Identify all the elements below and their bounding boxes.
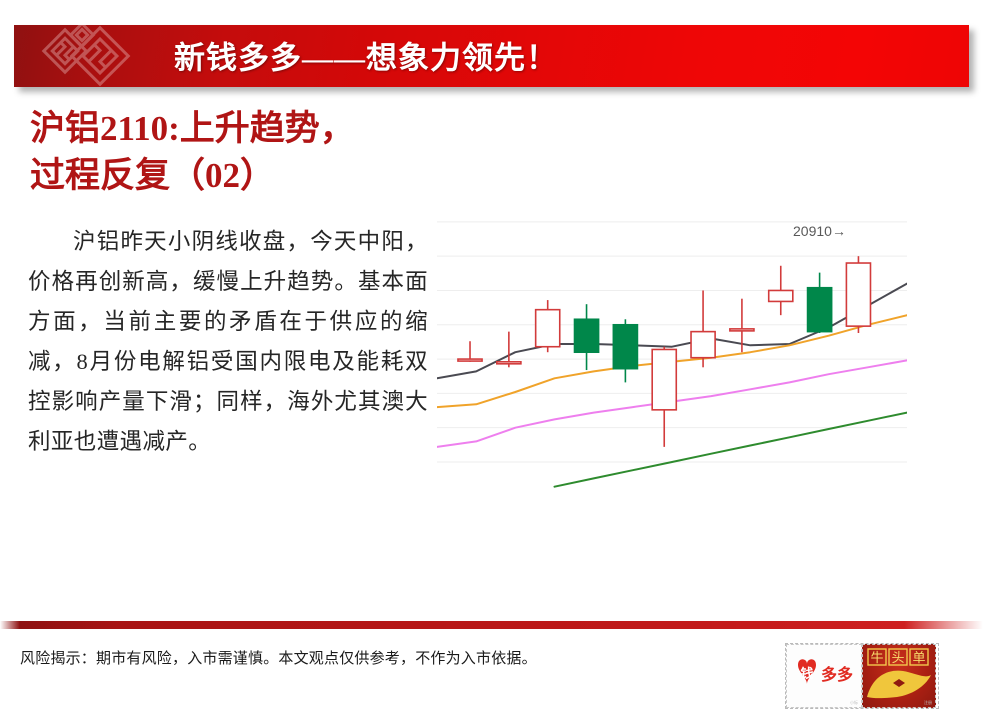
niutoudan-chars: 牛 头 单 (868, 649, 928, 665)
stamp-corner-right: 注册 (924, 700, 932, 706)
svg-text:头: 头 (891, 650, 904, 665)
price-callout-value: 20910 (793, 223, 832, 239)
candle (769, 266, 793, 315)
candle-body (769, 290, 793, 301)
candle (691, 290, 715, 367)
candle (808, 273, 832, 333)
qian-char: 钱 (800, 666, 813, 681)
qianduoduo-logo: 钱 多多 小标 (786, 644, 862, 708)
page-title: 沪铝2110:上升趋势， 过程反复（02） (30, 106, 450, 199)
bull-icon (867, 671, 931, 699)
candle (536, 300, 560, 352)
body-paragraph: 沪铝昨天小阴线收盘，今天中阳，价格再创新高，缓慢上升趋势。基本面方面，当前主要的… (28, 222, 428, 462)
candle (730, 299, 754, 353)
candle (613, 319, 637, 382)
stamp-corner-left: 小标 (850, 700, 858, 706)
ma-longest-green (555, 413, 908, 487)
price-callout: 20910→ (793, 223, 846, 239)
candle (458, 341, 482, 362)
niutoudan-logo: 牛 头 单 注册 (862, 644, 936, 708)
svg-text:单: 单 (912, 650, 925, 665)
candlestick-chart: 20910→ (437, 215, 907, 510)
candle (575, 304, 599, 370)
candle-body (652, 349, 676, 409)
page-title-line-1: 沪铝2110:上升趋势， (30, 106, 450, 153)
page-title-line-2: 过程反复（02） (30, 153, 450, 200)
banner-title: 新钱多多——想象力领先！ (174, 33, 558, 78)
footer-divider (0, 621, 983, 629)
chart-gridlines (437, 222, 907, 462)
candle-body (613, 325, 637, 369)
candle-body (575, 319, 599, 352)
duoduo-chars: 多多 (821, 665, 853, 684)
footer-logos: 钱 多多 小标 牛 头 单 注册 (785, 643, 939, 709)
price-callout-arrow: → (832, 223, 846, 239)
candle (846, 256, 870, 333)
candle-body (808, 288, 832, 332)
svg-text:牛: 牛 (870, 650, 883, 665)
candle-body (497, 362, 521, 364)
candle (497, 332, 521, 368)
candle-body (536, 310, 560, 347)
candle-body (458, 359, 482, 361)
header-banner: 新钱多多——想象力领先！ (14, 25, 969, 87)
chart-svg (437, 215, 907, 510)
candle-body (730, 329, 754, 331)
footer-disclaimer: 风险揭示：期市有风险，入市需谨慎。本文观点仅供参考，不作为入市依据。 (20, 647, 537, 668)
candle-body (846, 263, 870, 326)
candle (652, 347, 676, 447)
candle-body (691, 332, 715, 358)
chinese-knot-icon (32, 25, 162, 87)
